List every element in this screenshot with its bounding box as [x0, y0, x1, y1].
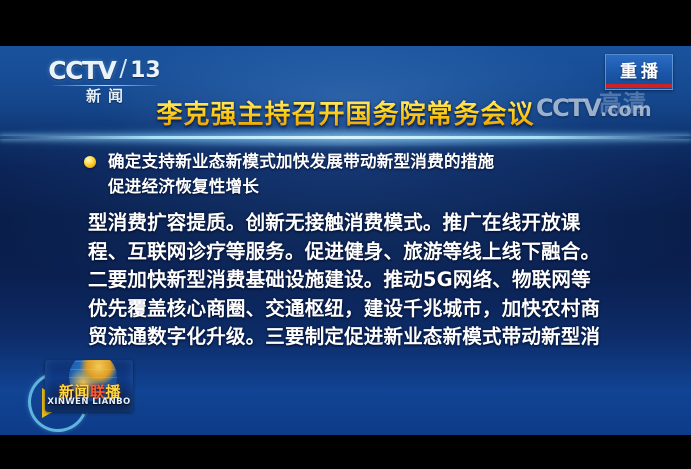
- body-text-block: 型消费扩容提质。创新无接触消费模式。推广在线开放课 程、互联网诊疗等服务。促进健…: [88, 209, 618, 352]
- headline-divider-line: [0, 136, 691, 139]
- cctv-channel-number: 13: [130, 60, 161, 82]
- rebroadcast-badge-label: 重播: [606, 57, 672, 82]
- subtitle-block: 确定支持新业态新模式加快发展带动新型消费的措施 促进经济恢复性增长: [108, 149, 668, 199]
- subtitle-line: 确定支持新业态新模式加快发展带动新型消费的措施: [108, 149, 668, 174]
- body-text-line: 优先覆盖核心商圈、交通枢纽，建设千兆城市，加快农村商: [88, 295, 618, 324]
- cctv-brand-text: CCTV: [48, 58, 115, 83]
- broadcast-screenshot: CCTV / 13 新闻 重播 高清 CCTV.com 李克强主持召开国务院常务…: [0, 0, 691, 469]
- letterbox-top-bar: [0, 0, 691, 46]
- program-name-en: XINWEN LIANBO: [47, 397, 131, 407]
- xinwen-lianbo-program-logo: 新闻联播 XINWEN LIANBO: [20, 358, 140, 430]
- body-text-line: 二要加快新型消费基础设施建设。推动5G网络、物联网等: [88, 266, 618, 295]
- bullet-point-icon: [84, 156, 96, 168]
- cctv-logo-row: CCTV / 13: [47, 58, 162, 83]
- program-logo-plaque: 新闻联播 XINWEN LIANBO: [45, 360, 133, 412]
- headline-title: 李克强主持召开国务院常务会议: [0, 94, 691, 131]
- body-text-line: 贸流通数字化升级。三要制定促进新业态新模式带动新型消: [88, 323, 618, 352]
- subtitle-line: 促进经济恢复性增长: [108, 174, 668, 199]
- body-text-line: 型消费扩容提质。创新无接触消费模式。推广在线开放课: [88, 209, 618, 238]
- cctv-slash-icon: /: [119, 58, 127, 81]
- letterbox-bottom-bar: [0, 435, 691, 469]
- video-frame: CCTV / 13 新闻 重播 高清 CCTV.com 李克强主持召开国务院常务…: [0, 46, 691, 435]
- body-text-line: 程、互联网诊疗等服务。促进健身、旅游等线上线下融合。: [88, 238, 618, 267]
- cctv-logo-divider: [53, 85, 157, 86]
